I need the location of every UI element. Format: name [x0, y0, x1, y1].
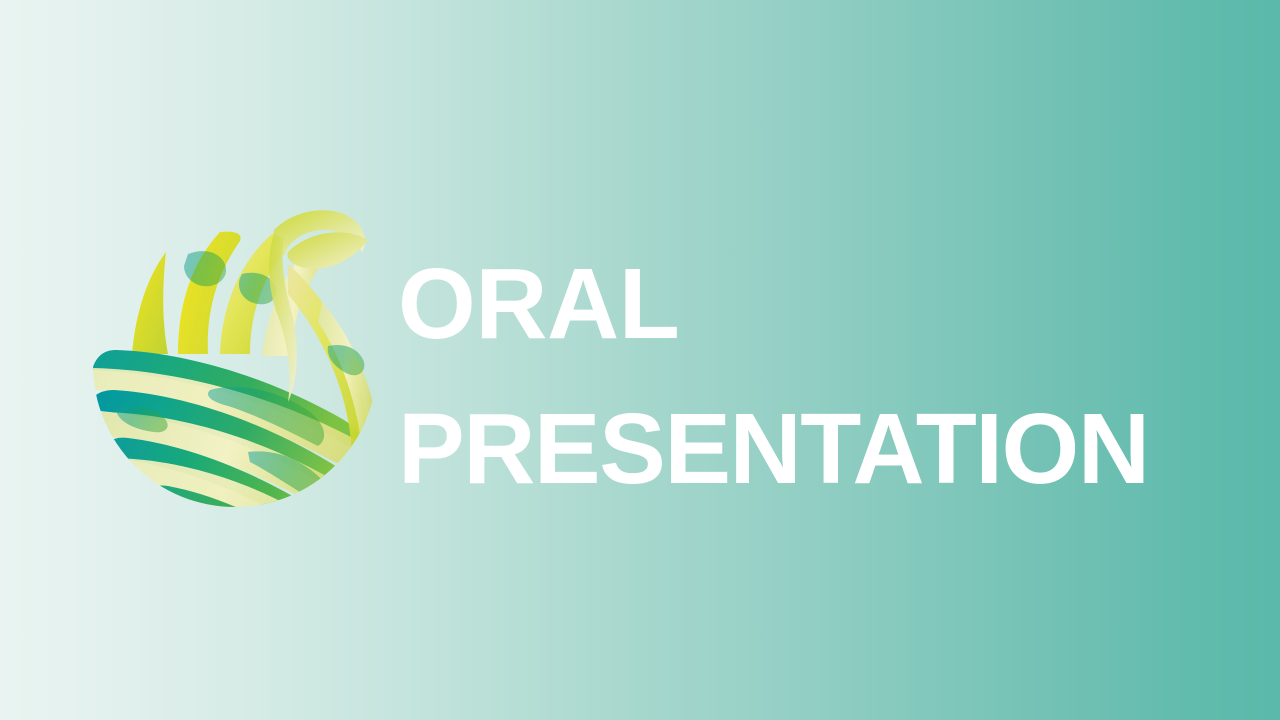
page-title: ORAL PRESENTATION — [398, 232, 1198, 522]
ribbon-band-yellow-tip-left — [132, 252, 168, 354]
globe-logo-svg — [92, 204, 382, 520]
title-slide: ORAL PRESENTATION — [0, 0, 1280, 720]
globe-ribbon-bands — [92, 232, 382, 520]
globe-ribbon-leaf-logo — [92, 204, 382, 520]
leaf-blade — [287, 232, 368, 268]
title-line-presentation: PRESENTATION — [398, 377, 1198, 522]
ribbon-band-lime-bottom — [162, 516, 345, 520]
title-line-oral: ORAL — [398, 232, 1198, 377]
